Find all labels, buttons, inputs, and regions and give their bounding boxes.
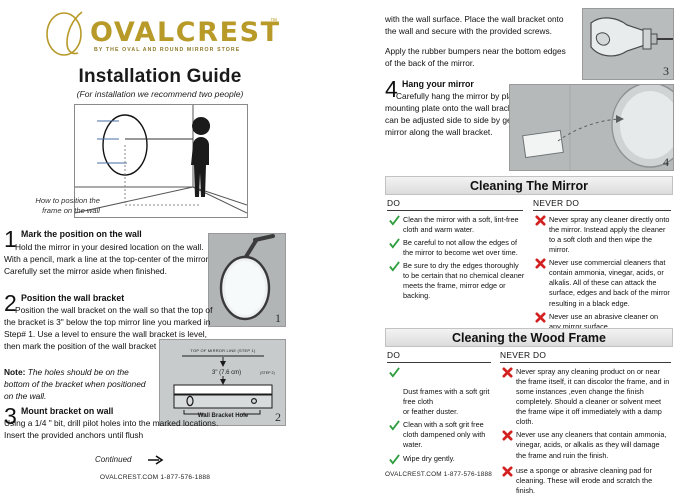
left-column: OVALCREST ™ BY THE OVAL AND ROUND MIRROR… <box>0 0 340 489</box>
section-2-do-label: DO <box>387 350 400 360</box>
step-1-body: Hold the mirror in your desired location… <box>4 242 216 278</box>
green-check-icon <box>389 238 400 249</box>
oval-monogram-icon <box>42 10 96 56</box>
step-2-note: Note: The holes should be on the bottom … <box>4 367 156 403</box>
page-title: Installation Guide <box>0 66 320 88</box>
list-item: Never spray any cleaning product on or n… <box>502 367 671 427</box>
section-cleaning-the-wood-frame: Cleaning the Wood Frame DO NEVER DO Dust… <box>385 328 673 473</box>
list-item: Never use any cleaners that contain ammo… <box>502 430 671 460</box>
section-1-do-label: DO <box>387 198 400 208</box>
svg-text:TOP OF MIRROR LINE (STEP 1): TOP OF MIRROR LINE (STEP 1) <box>191 348 256 353</box>
list-item: Never use commercial cleaners that conta… <box>535 258 671 308</box>
section-1-title: Cleaning The Mirror <box>470 179 588 193</box>
step-1-heading: Mark the position on the wall <box>21 229 142 239</box>
red-x-icon <box>535 258 546 269</box>
figure-wall-bracket-diagram: TOP OF MIRROR LINE (STEP 1) 3" (7.6 cm) … <box>159 339 286 426</box>
list-item: Never spray any cleaner directly onto th… <box>535 215 671 255</box>
list-item: Wipe dry gently. <box>389 454 493 464</box>
green-check-icon <box>389 454 400 465</box>
green-check-icon <box>389 420 400 431</box>
figure-4-number: 4 <box>663 155 669 170</box>
section-2-never-items: Never spray any cleaning product on or n… <box>502 367 671 499</box>
footer-right: OVALCREST.COM 1-877-576-1888 <box>385 471 492 478</box>
svg-text:(STEP 2): (STEP 2) <box>260 371 275 375</box>
step-3-heading: Mount bracket on wall <box>21 406 113 416</box>
list-item: use a sponge or abrasive cleaning pad fo… <box>502 466 671 496</box>
section-1-never-label: NEVER DO <box>533 198 579 208</box>
continued-arrow-icon <box>148 455 164 468</box>
green-check-icon <box>389 261 400 272</box>
brand-tagline: BY THE OVAL AND ROUND MIRROR STORE <box>94 47 240 53</box>
figure-drill-photo: 3 <box>582 8 674 80</box>
right-paragraph-2: Apply the rubber bumpers near the bottom… <box>385 46 575 70</box>
red-x-icon <box>502 367 513 378</box>
figure-hanging-mirror-photo: 4 <box>509 84 674 171</box>
list-item: Dust frames with a soft grit free cloth … <box>389 367 493 417</box>
section-2-do-items: Dust frames with a soft grit free cloth … <box>389 367 493 467</box>
section-cleaning-the-mirror: Cleaning The Mirror DO NEVER DO Clean th… <box>385 176 673 321</box>
step-4-heading: Hang your mirror <box>402 79 474 89</box>
section-2-never-label: NEVER DO <box>500 350 546 360</box>
note-text: The holes should be on the bottom of the… <box>4 367 146 401</box>
red-x-icon <box>535 215 546 226</box>
right-paragraph-1: with the wall surface. Place the wall br… <box>385 14 575 38</box>
red-x-icon <box>535 312 546 323</box>
step-2-heading: Position the wall bracket <box>21 293 124 303</box>
list-item: Be sure to dry the edges thoroughly to b… <box>389 261 525 301</box>
figure-oval-mirror-photo: 1 <box>208 233 286 327</box>
green-check-icon <box>389 367 400 378</box>
figure-2-number: 2 <box>275 410 281 425</box>
continued-label: Continued <box>95 455 131 464</box>
list-item: Clean with a soft grit free cloth dampen… <box>389 420 493 450</box>
section-2-header: Cleaning the Wood Frame <box>385 328 673 347</box>
step-3-body: Using a 1/4 " bit, drill pilot holes int… <box>4 418 224 442</box>
page-subtitle: (For installation we recommend two peopl… <box>0 89 320 99</box>
figure-1-number: 1 <box>275 311 281 326</box>
section-1-header: Cleaning The Mirror <box>385 176 673 195</box>
footer-left: OVALCREST.COM 1-877-576-1888 <box>0 474 310 481</box>
red-x-icon <box>502 466 513 477</box>
section-1-never-items: Never spray any cleaner directly onto th… <box>535 215 671 335</box>
brand-wordmark: OVALCREST <box>90 17 281 48</box>
green-check-icon <box>389 215 400 226</box>
section-2-title: Cleaning the Wood Frame <box>452 331 606 345</box>
right-column: with the wall surface. Place the wall br… <box>385 0 679 489</box>
note-label: Note: <box>4 367 25 377</box>
list-item: Clean the mirror with a soft, lint-free … <box>389 215 525 235</box>
svg-text:3" (7.6 cm): 3" (7.6 cm) <box>212 370 241 376</box>
figure-3-number: 3 <box>663 64 669 79</box>
room-diagram-caption: How to position the frame on the wall <box>4 196 100 217</box>
trademark-symbol: ™ <box>270 18 277 25</box>
installation-guide-page: OVALCREST ™ BY THE OVAL AND ROUND MIRROR… <box>0 0 679 489</box>
list-item: Be careful to not allow the edges of the… <box>389 238 525 258</box>
room-position-diagram <box>74 104 248 218</box>
section-1-do-items: Clean the mirror with a soft, lint-free … <box>389 215 525 305</box>
brand-logo: OVALCREST ™ BY THE OVAL AND ROUND MIRROR… <box>42 8 282 60</box>
red-x-icon <box>502 430 513 441</box>
